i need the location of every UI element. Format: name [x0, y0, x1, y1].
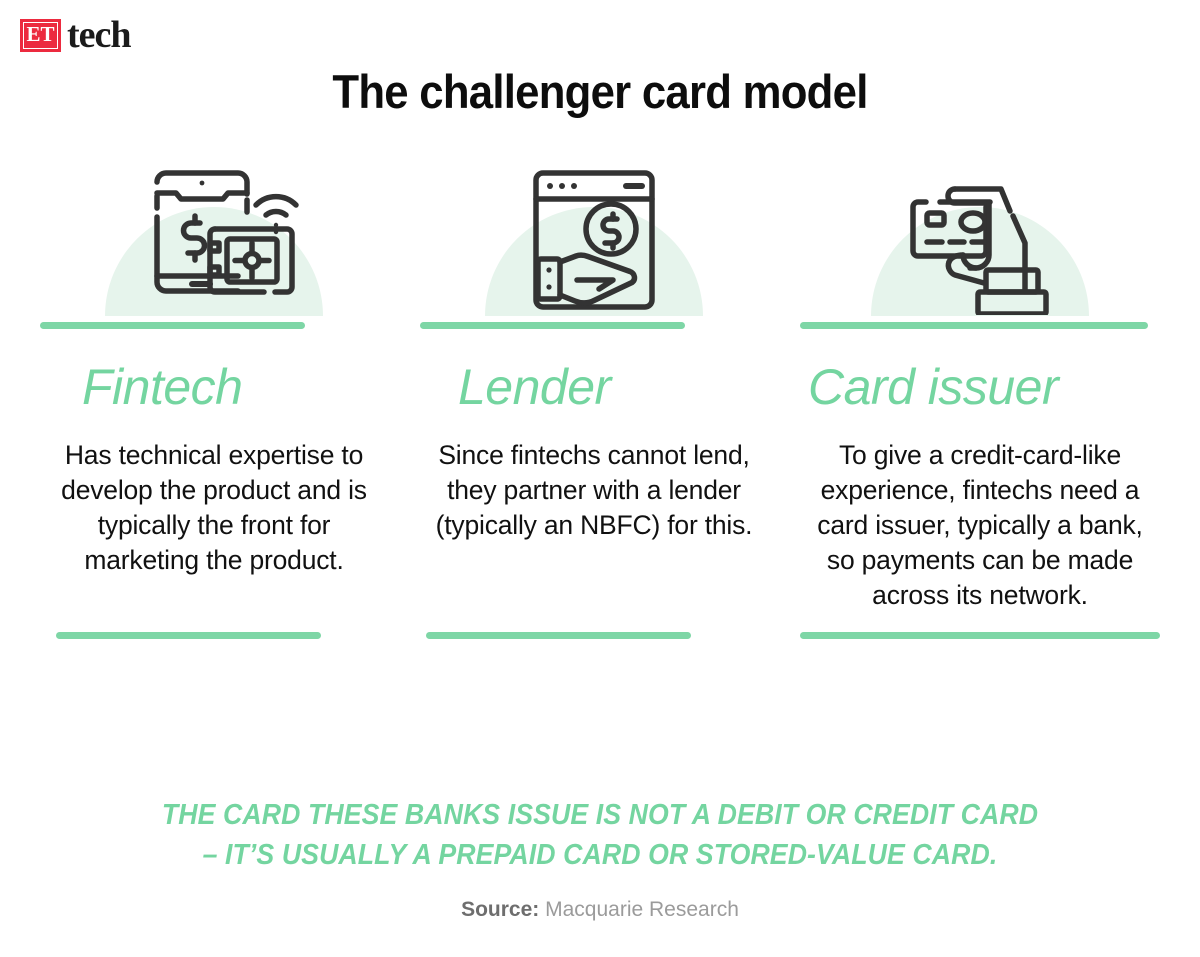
spacer	[420, 543, 768, 613]
icon-baseline-card-issuer	[800, 322, 1148, 329]
icon-stage-fintech	[40, 150, 388, 322]
smartphone-safe-wifi-icon	[114, 155, 314, 315]
column-rule-card-issuer	[800, 632, 1160, 639]
icon-baseline-fintech	[40, 322, 305, 329]
spacer	[40, 578, 388, 613]
robot-arm-credit-card-icon	[880, 163, 1080, 315]
column-heading-card-issuer: Card issuer	[800, 361, 1160, 414]
source-label: Source:	[461, 898, 539, 921]
page-title: The challenger card model	[42, 64, 1158, 119]
column-heading-fintech: Fintech	[40, 361, 388, 414]
source-line: Source: Macquarie Research	[0, 898, 1200, 922]
column-body-fintech: Has technical expertise to develop the p…	[40, 438, 388, 579]
footer-callout: THE CARD THESE BANKS ISSUE IS NOT A DEBI…	[48, 795, 1152, 875]
column-heading-lender: Lender	[420, 361, 768, 414]
column-card-issuer: Card issuer To give a credit-card-like e…	[800, 150, 1160, 639]
et-logo-mark: ET	[20, 19, 61, 52]
footer-callout-line-2: – IT’S USUALLY A PREPAID CARD OR STORED-…	[48, 835, 1152, 875]
icon-stage-card-issuer	[800, 150, 1160, 322]
column-rule-fintech	[56, 632, 321, 639]
footer-callout-line-1: THE CARD THESE BANKS ISSUE IS NOT A DEBI…	[48, 795, 1152, 835]
columns-container: Fintech Has technical expertise to devel…	[40, 150, 1160, 639]
column-rule-lender	[426, 632, 691, 639]
column-body-card-issuer: To give a credit-card-like experience, f…	[800, 438, 1160, 614]
column-fintech: Fintech Has technical expertise to devel…	[40, 150, 388, 639]
browser-hand-coin-icon	[514, 163, 674, 315]
brand-logo: ET tech	[20, 16, 131, 54]
icon-stage-lender	[420, 150, 768, 322]
column-body-lender: Since fintechs cannot lend, they partner…	[420, 438, 768, 544]
brand-wordmark: tech	[67, 16, 131, 54]
source-value: Macquarie Research	[545, 898, 739, 921]
infographic-root: ET tech The challenger card model	[0, 0, 1200, 957]
icon-baseline-lender	[420, 322, 685, 329]
column-lender: Lender Since fintechs cannot lend, they …	[420, 150, 768, 639]
et-logo-text: ET	[26, 24, 54, 45]
